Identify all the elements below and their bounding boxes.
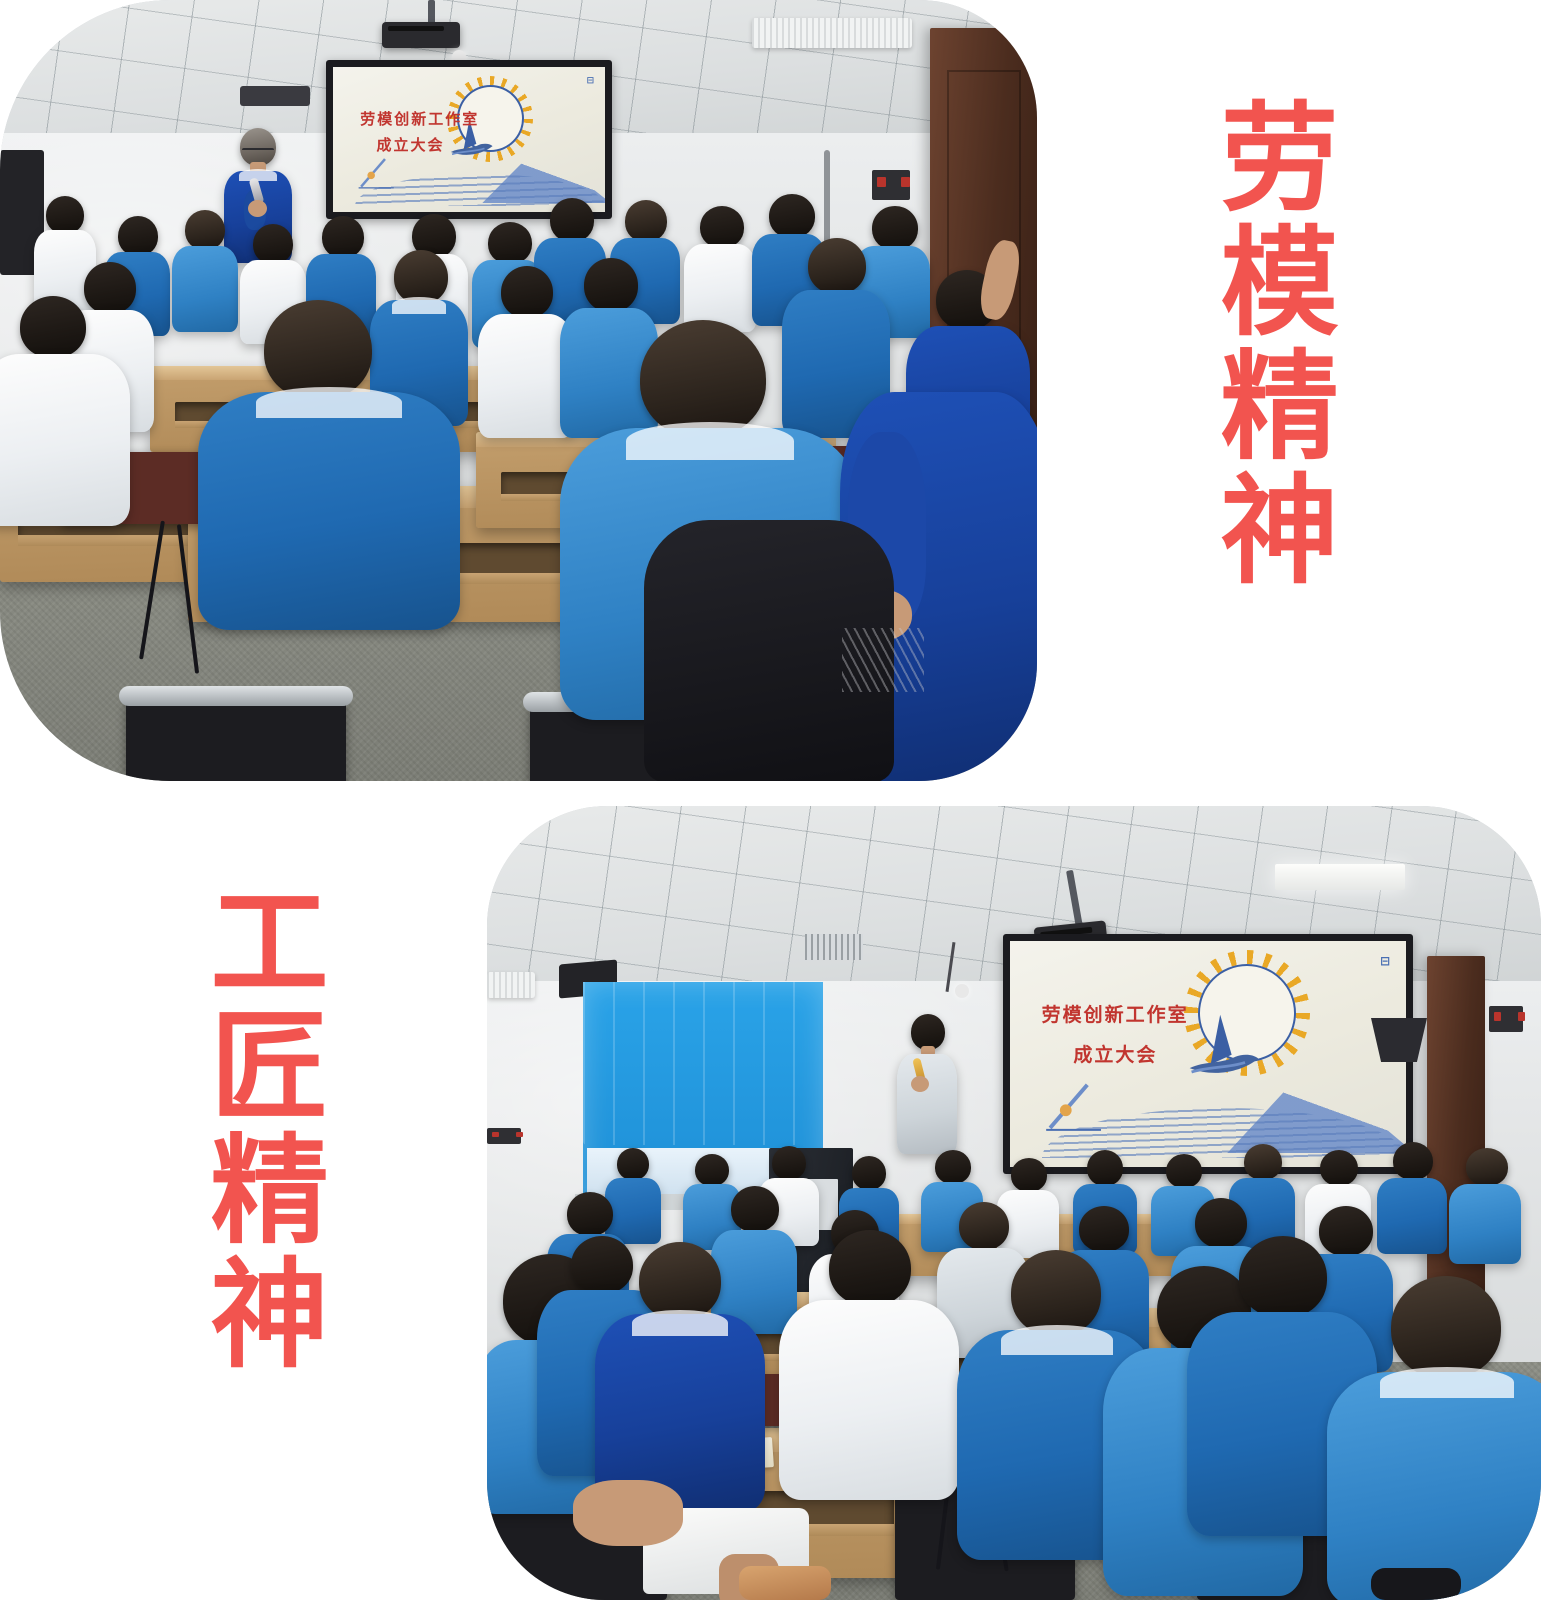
attendee-head bbox=[1320, 1150, 1358, 1186]
wall-switch-box bbox=[872, 170, 910, 200]
presenter-torso bbox=[897, 1054, 957, 1154]
attendee-head bbox=[1011, 1158, 1047, 1192]
attendee-head bbox=[829, 1230, 911, 1306]
attendee-head bbox=[20, 296, 86, 358]
caption-craftsman-spirit: 工匠精神 bbox=[186, 880, 330, 1376]
attendee-head bbox=[584, 258, 638, 312]
slide-crane-graphic bbox=[349, 154, 403, 192]
air-conditioner bbox=[752, 18, 912, 48]
air-conditioner bbox=[487, 972, 535, 998]
attendee-head bbox=[567, 1192, 613, 1236]
shirt-print bbox=[842, 628, 924, 692]
ceiling-light-panel bbox=[1275, 864, 1405, 890]
attendee-head bbox=[959, 1202, 1009, 1250]
classroom-scene-1: 劳模创新工作室 成立大会 ⊟ bbox=[0, 0, 1037, 781]
attendee-head bbox=[700, 206, 744, 248]
caption-labor-model-spirit: 劳模精神 bbox=[1196, 96, 1340, 592]
attendee-head bbox=[695, 1154, 729, 1186]
presenter-hand bbox=[248, 200, 267, 217]
attendee-head bbox=[264, 300, 372, 400]
attendee-head bbox=[1391, 1276, 1501, 1378]
attendee-front-center-left bbox=[198, 300, 460, 630]
photo-meeting-overview: 劳模创新工作室 成立大会 ⊟ bbox=[0, 0, 1037, 781]
attendee-head bbox=[501, 266, 553, 318]
chair-rim bbox=[119, 686, 352, 706]
attendee-torso bbox=[1327, 1372, 1541, 1600]
projection-screen: 劳模创新工作室 成立大会 ⊟ bbox=[1010, 941, 1406, 1167]
projection-screen: 劳模创新工作室 成立大会 ⊟ bbox=[333, 67, 605, 212]
attendee-torso bbox=[779, 1300, 959, 1500]
attendee-head bbox=[1466, 1148, 1508, 1186]
attendee-head bbox=[1087, 1150, 1123, 1186]
photo-meeting-wide: 劳模创新工作室 成立大会 ⊟ bbox=[487, 806, 1541, 1600]
attendee-head bbox=[185, 210, 225, 250]
attendee-head bbox=[253, 224, 293, 264]
wall-socket bbox=[487, 1128, 521, 1144]
attendee-head bbox=[808, 238, 866, 294]
wall-vent bbox=[805, 934, 863, 960]
attendee-head bbox=[1239, 1236, 1327, 1318]
attendee-head bbox=[118, 216, 158, 256]
attendee-head bbox=[1244, 1144, 1282, 1180]
presenter-glasses bbox=[242, 148, 274, 156]
presenter-head bbox=[911, 1014, 945, 1050]
attendee-black-shoe bbox=[1371, 1568, 1461, 1600]
attendee-torso bbox=[684, 244, 756, 332]
slide-crane-graphic bbox=[1034, 1077, 1113, 1136]
ceiling-light bbox=[240, 86, 310, 106]
attendee-collar bbox=[632, 1310, 727, 1336]
attendee-head bbox=[322, 216, 364, 258]
attendee-head bbox=[852, 1156, 886, 1190]
attendee-head bbox=[1079, 1206, 1129, 1252]
attendee-torso bbox=[198, 392, 460, 630]
attendee-head bbox=[488, 222, 532, 264]
presenter bbox=[893, 1014, 961, 1154]
attendee-head bbox=[935, 1150, 971, 1184]
attendee-head bbox=[769, 194, 815, 238]
presenter-head bbox=[240, 128, 276, 166]
attendee-front-white bbox=[779, 1230, 959, 1500]
attendee-head bbox=[640, 320, 766, 438]
attendee-back-10 bbox=[684, 206, 756, 332]
attendee-torso bbox=[1449, 1184, 1521, 1264]
presenter-hand bbox=[911, 1076, 929, 1092]
window-blind bbox=[583, 982, 823, 1145]
projection-screen-frame: 劳模创新工作室 成立大会 ⊟ bbox=[326, 60, 612, 219]
attendee-front-right-3 bbox=[1327, 1276, 1541, 1600]
attendee-far-12 bbox=[1449, 1148, 1521, 1264]
attendee-front-center-left bbox=[595, 1242, 765, 1512]
attendee-head bbox=[639, 1242, 721, 1320]
attendee-front-left bbox=[0, 296, 130, 526]
attendee-head bbox=[550, 198, 594, 242]
attendee-torso bbox=[0, 354, 130, 526]
attendee-head bbox=[1166, 1154, 1202, 1188]
attendee-head bbox=[617, 1148, 649, 1180]
projection-screen-frame: 劳模创新工作室 成立大会 ⊟ bbox=[1003, 934, 1413, 1174]
slide-title-line1: 劳模创新工作室 bbox=[1042, 1000, 1189, 1027]
slide-title-line1: 劳模创新工作室 bbox=[360, 108, 479, 129]
attendee-collar bbox=[256, 387, 403, 418]
attendee-head bbox=[625, 200, 667, 242]
attendee-arm-left bbox=[573, 1480, 683, 1546]
attendee-collar bbox=[1380, 1367, 1514, 1397]
attendee-head bbox=[1393, 1142, 1433, 1180]
classroom-scene-2: 劳模创新工作室 成立大会 ⊟ bbox=[487, 806, 1541, 1600]
attendee-head bbox=[772, 1146, 806, 1180]
projector bbox=[382, 22, 460, 48]
chair-front-left bbox=[126, 694, 346, 781]
attendee-collar bbox=[626, 422, 794, 460]
slide-title-line2: 成立大会 bbox=[1073, 1040, 1157, 1067]
projector-lens bbox=[955, 984, 969, 998]
attendee-head bbox=[1011, 1250, 1101, 1336]
slide-title-line2: 成立大会 bbox=[377, 134, 445, 155]
attendee-head bbox=[731, 1186, 779, 1232]
wall-switch-box bbox=[1489, 1006, 1523, 1032]
slide-corner-logo: ⊟ bbox=[1380, 955, 1390, 968]
attendee-head bbox=[394, 250, 448, 304]
slide-corner-logo: ⊟ bbox=[587, 76, 595, 85]
attendee-shoe bbox=[739, 1566, 831, 1600]
attendee-head bbox=[46, 196, 84, 234]
attendee-collar bbox=[1001, 1325, 1113, 1355]
